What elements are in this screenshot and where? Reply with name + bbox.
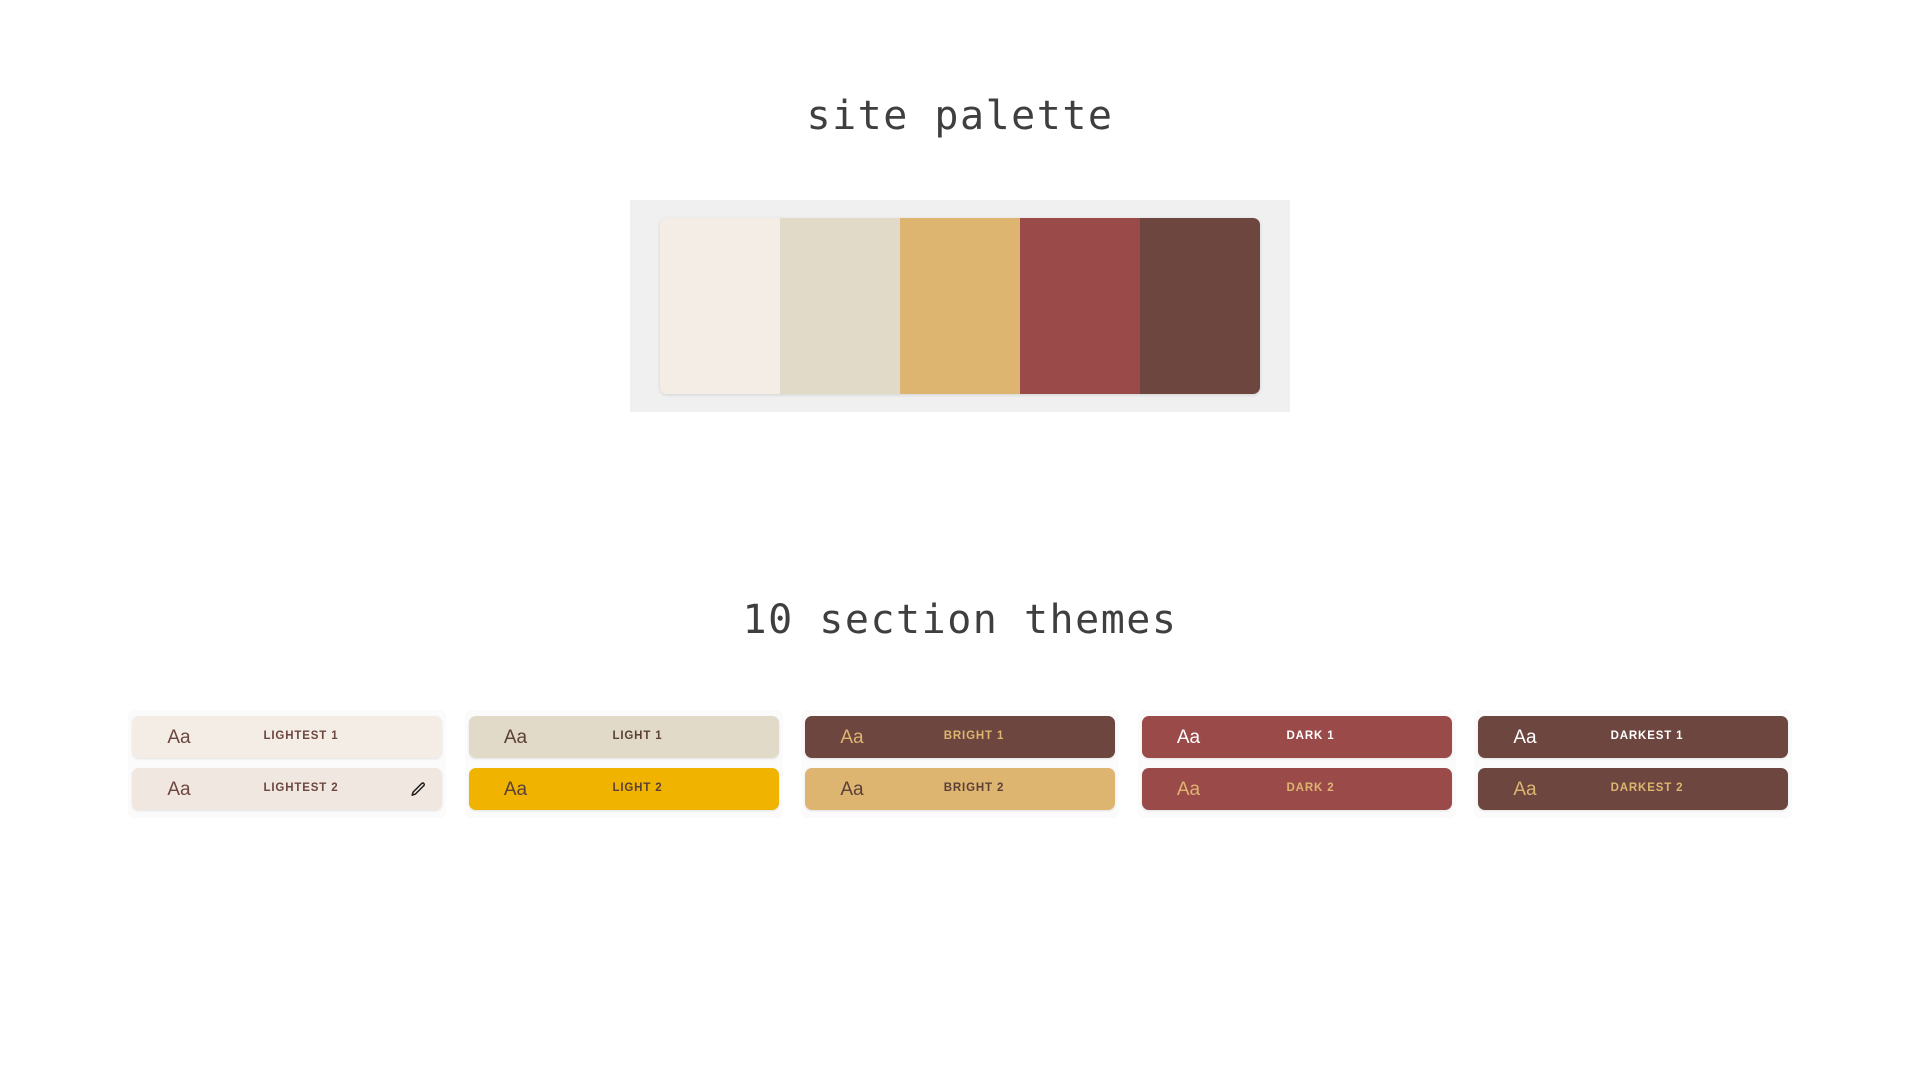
section-themes-section: 10 section themes AaLIGHTEST 1AaLIGHTEST… <box>0 600 1920 640</box>
page-root: site palette 10 section themes AaLIGHTES… <box>0 0 1920 1080</box>
palette-swatch-lightest[interactable] <box>660 218 780 394</box>
theme-row[interactable]: AaBRIGHT 2 <box>805 768 1115 810</box>
theme-sample-text: Aa <box>148 780 210 799</box>
theme-row[interactable]: AaBRIGHT 1 <box>805 716 1115 758</box>
theme-label: DARKEST 1 <box>1556 731 1772 743</box>
theme-label: DARK 1 <box>1220 731 1436 743</box>
themes-title: 10 section themes <box>0 600 1920 640</box>
theme-label: LIGHT 1 <box>547 731 763 743</box>
theme-group-dark: AaDARK 1AaDARK 2 <box>1138 710 1456 818</box>
theme-sample-text: Aa <box>485 780 547 799</box>
palette-swatch-bright[interactable] <box>900 218 1020 394</box>
theme-sample-text: Aa <box>821 728 883 747</box>
theme-label: LIGHTEST 2 <box>210 783 426 795</box>
theme-sample-text: Aa <box>148 728 210 747</box>
theme-label: DARK 2 <box>1220 783 1436 795</box>
palette-frame <box>630 200 1290 412</box>
theme-label: LIGHTEST 1 <box>210 731 426 743</box>
theme-sample-text: Aa <box>1158 728 1220 747</box>
themes-grid: AaLIGHTEST 1AaLIGHTEST 2AaLIGHT 1AaLIGHT… <box>128 710 1792 818</box>
theme-group-lightest: AaLIGHTEST 1AaLIGHTEST 2 <box>128 710 446 818</box>
theme-group-light: AaLIGHT 1AaLIGHT 2 <box>465 710 783 818</box>
theme-sample-text: Aa <box>1494 780 1556 799</box>
theme-group-bright: AaBRIGHT 1AaBRIGHT 2 <box>801 710 1119 818</box>
theme-sample-text: Aa <box>1158 780 1220 799</box>
theme-row[interactable]: AaLIGHT 2 <box>469 768 779 810</box>
theme-label: BRIGHT 2 <box>883 783 1099 795</box>
theme-label: BRIGHT 1 <box>883 731 1099 743</box>
theme-sample-text: Aa <box>821 780 883 799</box>
theme-row[interactable]: AaLIGHTEST 1 <box>132 716 442 758</box>
theme-label: DARKEST 2 <box>1556 783 1772 795</box>
palette-swatch-light[interactable] <box>780 218 900 394</box>
site-palette-section: site palette <box>0 96 1920 136</box>
theme-sample-text: Aa <box>485 728 547 747</box>
theme-row[interactable]: AaDARK 2 <box>1142 768 1452 810</box>
theme-row[interactable]: AaDARK 1 <box>1142 716 1452 758</box>
page-title: site palette <box>0 96 1920 136</box>
theme-group-darkest: AaDARKEST 1AaDARKEST 2 <box>1474 710 1792 818</box>
theme-row[interactable]: AaLIGHT 1 <box>469 716 779 758</box>
palette-strip <box>660 218 1260 394</box>
theme-row[interactable]: AaDARKEST 1 <box>1478 716 1788 758</box>
palette-swatch-darkest[interactable] <box>1140 218 1260 394</box>
theme-sample-text: Aa <box>1494 728 1556 747</box>
palette-swatch-dark[interactable] <box>1020 218 1140 394</box>
theme-row[interactable]: AaDARKEST 2 <box>1478 768 1788 810</box>
theme-label: LIGHT 2 <box>547 783 763 795</box>
pencil-icon[interactable] <box>408 779 428 799</box>
theme-row[interactable]: AaLIGHTEST 2 <box>132 768 442 810</box>
